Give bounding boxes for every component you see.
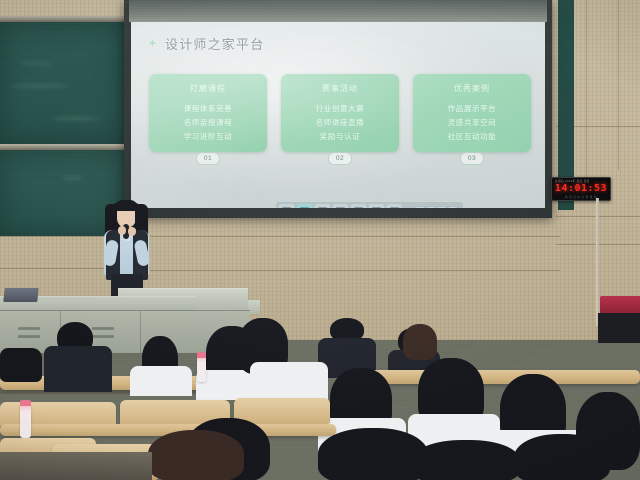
slide-card: 优秀案例 作品展示平台 灵感共享空间 社区互动功能 03 [413, 74, 531, 152]
wall-pole [596, 198, 599, 326]
card-number: 01 [196, 152, 220, 165]
card-lines: 行业创意大赛 名师讲座直播 奖励与认证 [316, 103, 365, 142]
prev-slide-icon[interactable] [416, 207, 424, 209]
slide-counter-icon[interactable] [427, 207, 435, 209]
red-cabinet [600, 296, 640, 314]
pointer-icon[interactable] [297, 204, 312, 208]
slide-card: 打磨课程 课程体系完善 名师亲授课程 学习进阶互动 01 [149, 74, 267, 152]
more-icon[interactable] [449, 207, 457, 209]
card-line: 名师亲授课程 [184, 117, 233, 128]
card-heading: 优秀案例 [454, 83, 490, 94]
screen-header-band [129, 0, 547, 22]
audience-head [412, 440, 520, 480]
notes-icon[interactable] [387, 204, 402, 208]
slide-grid-icon[interactable] [369, 204, 384, 208]
water-bottle [20, 404, 31, 438]
wall-seam [150, 270, 560, 271]
audience-head [514, 434, 610, 480]
slide-cards: 打磨课程 课程体系完善 名师亲授课程 学习进阶互动 01 赛事活动 行业创意大赛… [149, 74, 531, 152]
card-line: 行业创意大赛 [316, 103, 365, 114]
seat-row [370, 370, 640, 384]
slide-title: 设计师之家平台 [165, 34, 264, 53]
slide-title-row: 设计师之家平台 [147, 34, 264, 53]
laptop [3, 288, 38, 302]
wall-seam [586, 0, 587, 180]
card-number: 02 [328, 152, 352, 165]
card-lines: 课程体系完善 名师亲授课程 学习进阶互动 [184, 103, 233, 142]
card-heading: 打磨课程 [190, 83, 226, 94]
presenter [92, 196, 162, 300]
lecture-hall-screenshot: 设计师之家平台 打磨课程 课程体系完善 名师亲授课程 学习进阶互动 01 赛事活… [0, 0, 640, 480]
card-heading: 赛事活动 [322, 83, 358, 94]
backpack [0, 348, 42, 382]
audience-head [148, 430, 244, 480]
bottle-cap-icon [197, 352, 206, 358]
water-bottle [197, 356, 206, 382]
pen-icon[interactable] [315, 204, 330, 208]
bottle-cap-icon [20, 400, 31, 406]
menu-icon[interactable] [279, 204, 294, 208]
card-line: 作品展示平台 [448, 103, 497, 114]
chalk-rail-top [0, 16, 124, 22]
wall-seam [618, 0, 619, 170]
card-number: 03 [460, 152, 484, 165]
audience-body [130, 366, 192, 396]
highlighter-icon[interactable] [333, 204, 348, 208]
presentation-toolbar[interactable] [276, 202, 463, 208]
audience-body [250, 362, 328, 402]
audience-head [403, 324, 437, 360]
floor [0, 452, 152, 480]
wall-seam [150, 236, 560, 237]
slide-nav-group[interactable] [413, 206, 460, 209]
chalkboard-upper [0, 22, 124, 144]
next-slide-icon[interactable] [438, 207, 446, 209]
card-line: 社区互动功能 [448, 131, 497, 142]
card-line: 名师讲座直播 [316, 117, 365, 128]
slide-card: 赛事活动 行业创意大赛 名师讲座直播 奖励与认证 02 [281, 74, 399, 152]
eraser-icon[interactable] [351, 204, 366, 208]
card-line: 课程体系完善 [184, 103, 233, 114]
digital-wall-clock: 星期四 2024年 温度 湿度 14:01:53 年 月 日 时 分 秒 温 湿 [551, 177, 611, 201]
card-line: 奖励与认证 [320, 131, 361, 142]
clock-bottom-label: 年 月 日 时 分 秒 温 湿 [555, 195, 607, 199]
clock-time: 14:01:53 [552, 183, 610, 194]
projection-screen: 设计师之家平台 打磨课程 课程体系完善 名师亲授课程 学习进阶互动 01 赛事活… [131, 22, 545, 208]
audience-body [44, 346, 112, 392]
leaf-icon [147, 38, 158, 49]
card-line: 灵感共享空间 [448, 117, 497, 128]
card-lines: 作品展示平台 灵感共享空间 社区互动功能 [448, 103, 497, 142]
card-line: 学习进阶互动 [184, 131, 233, 142]
